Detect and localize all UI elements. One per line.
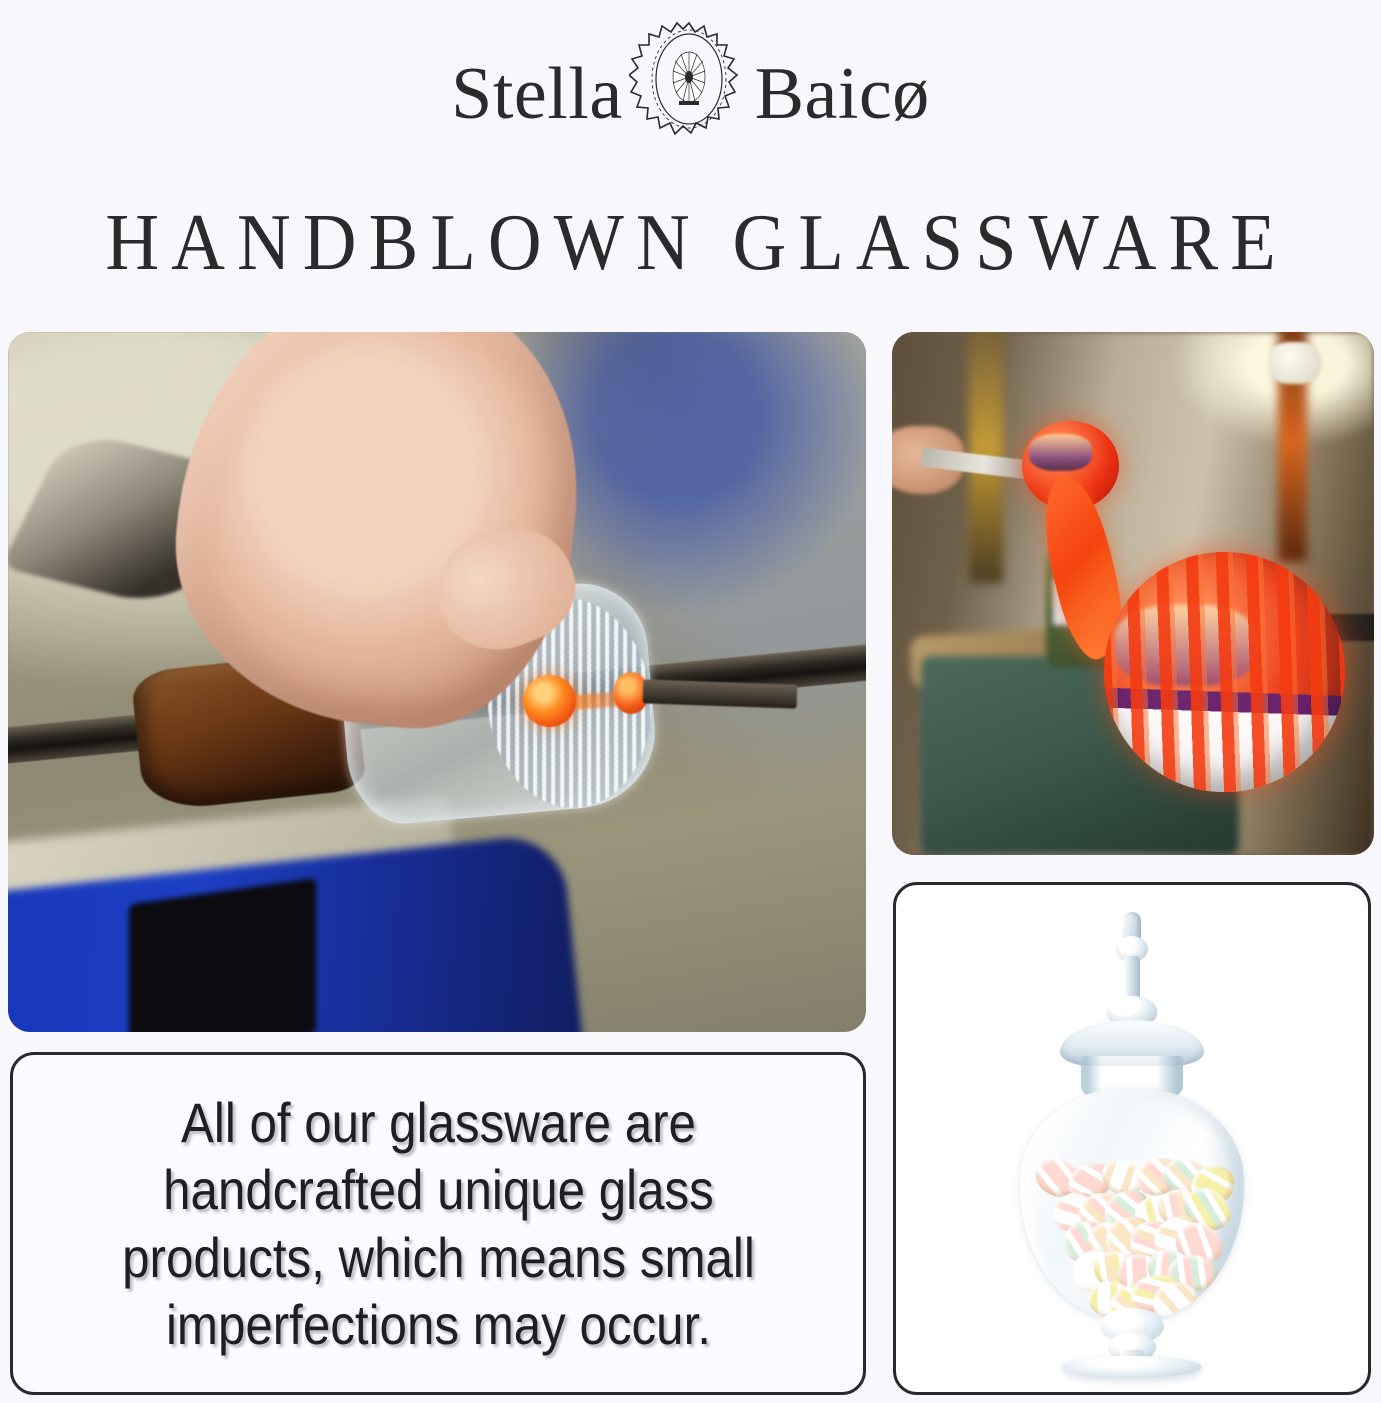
brand-header: Stella Baicø [0, 14, 1381, 174]
ceiling-lamp [1268, 342, 1321, 384]
spiral-wrapped-glass-sphere [1104, 552, 1345, 793]
molten-glass-spot-a [523, 675, 576, 727]
disclaimer-box: All of our glassware are handcrafted uni… [10, 1052, 866, 1395]
jar-body [1020, 1088, 1244, 1320]
ornate-oval-starburst-emblem-icon [629, 19, 749, 169]
apothecary-jar [982, 904, 1282, 1374]
sphere-coil-wrap [1104, 552, 1345, 793]
product-infographic-page: Stella Baicø [0, 0, 1381, 1403]
brand-name-left: Stella [451, 57, 623, 131]
apothecary-jar-with-marshmallows-photo [893, 882, 1371, 1395]
bench-shadow [129, 878, 316, 1032]
jar-foot [1062, 1356, 1202, 1378]
page-title: HANDBLOWN GLASSWARE [48, 198, 1332, 289]
molten-red-glass-sphere-photo [892, 332, 1374, 855]
disclaimer-text: All of our glassware are handcrafted uni… [99, 1089, 777, 1358]
blob-reflection [1029, 434, 1092, 471]
glassblower-shaping-clear-vessel-photo [8, 332, 866, 1032]
brand-name-right: Baicø [755, 57, 930, 131]
